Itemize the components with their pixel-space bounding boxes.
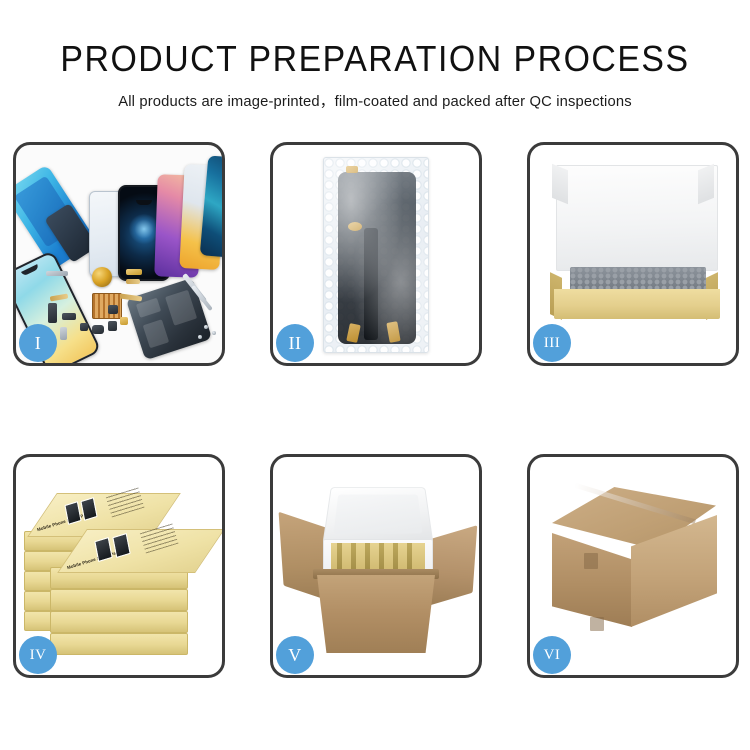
stacked-box xyxy=(50,611,188,633)
box-lid-right-flap xyxy=(698,164,714,204)
component-chip-icon xyxy=(62,313,76,320)
box-lid-left-flap xyxy=(552,164,568,204)
step-panel-1: I Mobile phone screens, tempered glass, … xyxy=(13,142,225,366)
component-chip-icon xyxy=(126,269,142,275)
product-preparation-infographic: PRODUCT PREPARATION PROCESS All products… xyxy=(0,0,750,750)
carton-flap-tab xyxy=(584,553,598,569)
sealed-carton-left-face xyxy=(552,533,632,627)
component-chip-icon xyxy=(108,321,117,331)
screw-icon xyxy=(204,325,208,329)
speaker-coil-icon xyxy=(92,267,112,287)
stacked-boxes-icon: Mobile Phone Spare Parts Mobile Phone Sp… xyxy=(24,475,220,665)
tape-icon xyxy=(348,222,362,231)
step-panel-6: VI Sealed outer carton ready for dispatc… xyxy=(527,454,739,678)
step-badge-4: IV xyxy=(19,636,57,674)
step-badge-3: III xyxy=(533,324,571,362)
screen-flex-strip-icon xyxy=(364,228,378,340)
component-chip-icon xyxy=(92,325,104,334)
step-badge-2: II xyxy=(276,324,314,362)
screw-icon xyxy=(212,331,216,335)
flex-cable-icon xyxy=(126,279,140,284)
box-lid-icon xyxy=(556,165,718,271)
step-badge-1: I xyxy=(19,324,57,362)
step-badge-6: VI xyxy=(533,636,571,674)
stacked-box xyxy=(50,589,188,611)
component-chip-icon xyxy=(46,271,68,276)
kraft-box-front xyxy=(554,289,720,319)
tape-icon xyxy=(346,166,358,173)
page-title: PRODUCT PREPARATION PROCESS xyxy=(23,40,728,78)
header: PRODUCT PREPARATION PROCESS All products… xyxy=(0,0,750,111)
step-panel-2: II Finished screen assembly sealed in bu… xyxy=(270,142,482,366)
screw-icon xyxy=(198,335,202,339)
process-steps-grid: I Mobile phone screens, tempered glass, … xyxy=(13,142,739,678)
step-badge-5: V xyxy=(276,636,314,674)
carton-flap-tab xyxy=(590,617,604,631)
component-chip-icon xyxy=(120,317,128,325)
step-panel-3: III Units placed into foam-lined kraft i… xyxy=(527,142,739,366)
styrofoam-lid-icon xyxy=(323,487,434,543)
step-panel-4: Mobile Phone Spare Parts Mobile Phone Sp… xyxy=(13,454,225,678)
component-chip-icon xyxy=(80,323,88,331)
component-chip-icon xyxy=(60,327,67,340)
component-chip-icon xyxy=(48,303,57,323)
component-chip-icon xyxy=(108,305,118,314)
stacked-box xyxy=(50,633,188,655)
page-subtitle: All products are image-printed，film-coat… xyxy=(6,90,745,111)
bubble-wrap-package-icon xyxy=(323,157,429,353)
step-panel-5: V Boxes loaded into styrofoam-protected … xyxy=(270,454,482,678)
carton-body xyxy=(317,575,435,653)
